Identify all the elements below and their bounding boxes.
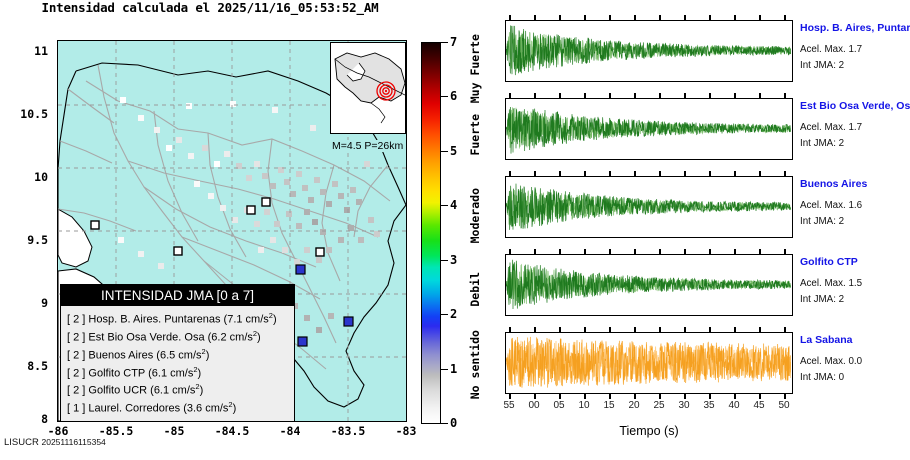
map-ytick: 11 bbox=[0, 44, 48, 58]
seismogram-tick bbox=[634, 249, 636, 254]
nicoya-gulf bbox=[58, 209, 92, 267]
legend-station: Golfito UCR bbox=[88, 385, 147, 397]
seismogram-tick bbox=[784, 249, 786, 254]
seismogram-accel: Acel. Max. 1.6 bbox=[800, 200, 862, 211]
seismogram-tick bbox=[659, 15, 661, 20]
seismogram-tick bbox=[584, 15, 586, 20]
seismogram-tick bbox=[784, 327, 786, 332]
legend-station: Buenos Aires bbox=[88, 349, 153, 361]
seismogram-tick bbox=[584, 93, 586, 98]
seismogram-tick bbox=[759, 249, 761, 254]
map-xtick: -84 bbox=[260, 424, 320, 438]
seismogram-tick bbox=[684, 394, 686, 399]
seismogram-tick bbox=[684, 15, 686, 20]
seismogram-tick bbox=[634, 171, 636, 176]
legend-station: Golfito CTP bbox=[88, 367, 145, 379]
legend-station: Laurel. Corredores bbox=[88, 403, 180, 415]
seismogram-tick bbox=[684, 249, 686, 254]
legend-paren: ) bbox=[257, 332, 261, 344]
seismogram-tick bbox=[559, 15, 561, 20]
seismogram-tick bbox=[609, 171, 611, 176]
legend-accel: (6.1 cm/s bbox=[150, 385, 195, 397]
seismogram-tick bbox=[784, 15, 786, 20]
legend-entries: [ 2 ] Hosp. B. Aires. Puntarenas (7.1 cm… bbox=[61, 306, 294, 421]
seismogram-tick bbox=[734, 327, 736, 332]
seismogram-tick bbox=[609, 93, 611, 98]
colorbar-category: No sentido bbox=[468, 330, 482, 399]
seismogram-tick bbox=[709, 327, 711, 332]
legend-accel: (6.5 cm/s bbox=[156, 349, 201, 361]
seismogram-tick bbox=[584, 171, 586, 176]
seismogram-station-label: Golfito CTP bbox=[800, 256, 858, 268]
inset-graphic bbox=[331, 43, 405, 133]
seismogram-tick bbox=[509, 394, 511, 399]
seismogram-station-label: Hosp. B. Aires, Puntare bbox=[800, 22, 910, 34]
seismogram-panel[interactable] bbox=[505, 254, 793, 316]
map-xtick: -85.5 bbox=[86, 424, 146, 438]
seismogram-tick bbox=[659, 171, 661, 176]
seismogram-tick bbox=[584, 327, 586, 332]
seismogram-panel[interactable] bbox=[505, 332, 793, 394]
legend-item: [ 2 ] Buenos Aires (6.5 cm/s2) bbox=[67, 345, 288, 363]
map-xtick: -83.5 bbox=[318, 424, 378, 438]
seismogram-station-label: Est Bio Osa Verde, Osa bbox=[800, 100, 910, 112]
northwest-border bbox=[58, 71, 76, 209]
seismogram-tick bbox=[559, 249, 561, 254]
seismogram-jma: Int JMA: 2 bbox=[800, 294, 844, 305]
footer-code: 20251116115354 bbox=[41, 437, 105, 447]
seismogram-tick-label: 15 bbox=[598, 400, 620, 411]
seismogram-tick bbox=[534, 327, 536, 332]
seismogram-tick bbox=[759, 327, 761, 332]
seismogram-tick bbox=[684, 327, 686, 332]
magnitude-depth-caption: M=4.5 P=26km bbox=[331, 140, 404, 152]
footer-org: LISUCR bbox=[4, 437, 39, 448]
legend-accel: (3.6 cm/s bbox=[183, 403, 228, 415]
colorbar-category: Fuerte bbox=[468, 114, 482, 156]
colorbar-tick: 7 bbox=[450, 35, 464, 49]
legend-level: [ 1 ] bbox=[67, 403, 85, 415]
legend-level: [ 2 ] bbox=[67, 314, 85, 326]
colorbar-tick: 5 bbox=[450, 144, 464, 158]
legend-accel: (7.1 cm/s bbox=[224, 314, 269, 326]
seismogram-tick bbox=[734, 15, 736, 20]
seismogram-tick bbox=[709, 171, 711, 176]
map-xtick: -84.5 bbox=[202, 424, 262, 438]
legend-title: INTENSIDAD JMA [0 a 7] bbox=[61, 285, 294, 306]
seismogram-panel[interactable] bbox=[505, 20, 793, 82]
seismogram-accel: Acel. Max. 0.0 bbox=[800, 356, 862, 367]
seismogram-tick bbox=[534, 171, 536, 176]
colorbar-tick: 2 bbox=[450, 307, 464, 321]
seismogram-tick bbox=[759, 93, 761, 98]
legend-level: [ 2 ] bbox=[67, 332, 85, 344]
seismogram-tick bbox=[609, 15, 611, 20]
seismogram-jma: Int JMA: 2 bbox=[800, 138, 844, 149]
seismogram-tick bbox=[709, 249, 711, 254]
legend-paren: ) bbox=[206, 349, 210, 361]
seismogram-tick bbox=[734, 394, 736, 399]
seismogram-tick bbox=[584, 249, 586, 254]
seismogram-tick bbox=[759, 171, 761, 176]
colorbar-tick: 4 bbox=[450, 198, 464, 212]
seismogram-tick-label: 30 bbox=[673, 400, 695, 411]
seismogram-jma: Int JMA: 2 bbox=[800, 216, 844, 227]
seismogram-tick bbox=[534, 93, 536, 98]
page-title: Intensidad calculada el 2025/11/16_05:53… bbox=[0, 0, 420, 15]
seismogram-tick bbox=[634, 15, 636, 20]
seismogram-tick bbox=[784, 171, 786, 176]
legend-item: [ 2 ] Golfito CTP (6.1 cm/s2) bbox=[67, 363, 288, 381]
seismogram-tick bbox=[559, 171, 561, 176]
seismogram-tick bbox=[659, 93, 661, 98]
seismogram-jma: Int JMA: 0 bbox=[800, 372, 844, 383]
seismogram-tick bbox=[659, 394, 661, 399]
legend-paren: ) bbox=[200, 385, 204, 397]
colorbar-tick: 3 bbox=[450, 253, 464, 267]
footer: LISUCR 20251116115354 bbox=[4, 437, 106, 448]
seismogram-station-label: Buenos Aires bbox=[800, 178, 867, 190]
legend-paren: ) bbox=[198, 367, 202, 379]
seismogram-tick bbox=[534, 249, 536, 254]
map-xtick: -83 bbox=[376, 424, 436, 438]
seismogram-accel: Acel. Max. 1.5 bbox=[800, 278, 862, 289]
legend-paren: ) bbox=[233, 403, 237, 415]
legend-paren: ) bbox=[273, 314, 277, 326]
seismogram-accel: Acel. Max. 1.7 bbox=[800, 44, 862, 55]
seismogram-tick bbox=[584, 394, 586, 399]
seismogram-tick bbox=[609, 327, 611, 332]
seismogram-tick bbox=[759, 394, 761, 399]
seismogram-tick bbox=[734, 93, 736, 98]
seismogram-panel[interactable] bbox=[505, 176, 793, 238]
seismogram-tick bbox=[509, 249, 511, 254]
seismogram-tick-label: 25 bbox=[648, 400, 670, 411]
seismogram-tick bbox=[559, 394, 561, 399]
colorbar-category: Muy Fuerte bbox=[468, 34, 482, 103]
colorbar-category: Debil bbox=[468, 272, 482, 307]
colorbar-tick: 1 bbox=[450, 362, 464, 376]
seismogram-tick bbox=[734, 171, 736, 176]
intensity-colorbar bbox=[421, 42, 441, 424]
epicenter-icon bbox=[377, 82, 395, 100]
epicenter-inset-map[interactable] bbox=[330, 42, 406, 134]
map-xtick: -85 bbox=[144, 424, 204, 438]
seismogram-tick bbox=[659, 327, 661, 332]
seismogram-tick bbox=[634, 93, 636, 98]
seismogram-tick bbox=[634, 394, 636, 399]
seismogram-tick bbox=[759, 15, 761, 20]
seismogram-tick bbox=[784, 93, 786, 98]
legend-item: [ 2 ] Hosp. B. Aires. Puntarenas (7.1 cm… bbox=[67, 309, 288, 327]
map-ytick: 8.5 bbox=[0, 359, 48, 373]
intensity-legend: INTENSIDAD JMA [0 a 7] [ 2 ] Hosp. B. Ai… bbox=[60, 284, 295, 422]
seismogram-panel[interactable] bbox=[505, 98, 793, 160]
map-xtick: -86 bbox=[28, 424, 88, 438]
seismogram-tick bbox=[609, 249, 611, 254]
seismogram-tick bbox=[609, 394, 611, 399]
seismogram-tick bbox=[534, 15, 536, 20]
seismogram-tick bbox=[534, 394, 536, 399]
map-ytick: 9.5 bbox=[0, 233, 48, 247]
seismogram-tick-label: 35 bbox=[698, 400, 720, 411]
legend-item: [ 2 ] Golfito UCR (6.1 cm/s2) bbox=[67, 380, 288, 398]
legend-accel: (6.1 cm/s bbox=[148, 367, 193, 379]
legend-item: [ 2 ] Est Bio Osa Verde. Osa (6.2 cm/s2) bbox=[67, 327, 288, 345]
seismogram-tick-label: 05 bbox=[548, 400, 570, 411]
seismogram-tick bbox=[659, 249, 661, 254]
colorbar-tick: 0 bbox=[450, 416, 464, 430]
seismogram-tick-label: 00 bbox=[523, 400, 545, 411]
seismogram-tick-label: 20 bbox=[623, 400, 645, 411]
legend-item: [ 1 ] Laurel. Corredores (3.6 cm/s2) bbox=[67, 398, 288, 416]
seismogram-tick bbox=[784, 394, 786, 399]
seismogram-xaxis-label: Tiempo (s) bbox=[505, 424, 793, 438]
legend-level: [ 2 ] bbox=[67, 349, 85, 361]
seismogram-tick bbox=[734, 249, 736, 254]
seismogram-tick bbox=[509, 93, 511, 98]
seismogram-tick bbox=[559, 93, 561, 98]
seismogram-tick-label: 55 bbox=[498, 400, 520, 411]
seismogram-tick bbox=[509, 171, 511, 176]
seismogram-tick bbox=[634, 327, 636, 332]
legend-accel: (6.2 cm/s bbox=[208, 332, 253, 344]
seismogram-tick bbox=[709, 394, 711, 399]
seismogram-tick bbox=[509, 15, 511, 20]
seismogram-tick bbox=[684, 93, 686, 98]
seismogram-tick-label: 45 bbox=[748, 400, 770, 411]
seismogram-tick bbox=[709, 15, 711, 20]
map-ytick: 9 bbox=[0, 296, 48, 310]
seismogram-tick bbox=[509, 327, 511, 332]
seismogram-tick-label: 50 bbox=[773, 400, 795, 411]
seismogram-station-label: La Sabana bbox=[800, 334, 853, 346]
legend-level: [ 2 ] bbox=[67, 367, 85, 379]
map-ytick: 10.5 bbox=[0, 107, 48, 121]
colorbar-tick: 6 bbox=[450, 89, 464, 103]
seismogram-tick-label: 40 bbox=[723, 400, 745, 411]
seismogram-accel: Acel. Max. 1.7 bbox=[800, 122, 862, 133]
seismogram-tick-label: 10 bbox=[573, 400, 595, 411]
colorbar-category: Moderado bbox=[468, 188, 482, 243]
legend-level: [ 2 ] bbox=[67, 385, 85, 397]
seismogram-tick bbox=[559, 327, 561, 332]
seismogram-tick bbox=[684, 171, 686, 176]
seismogram-jma: Int JMA: 2 bbox=[800, 60, 844, 71]
legend-station: Est Bio Osa Verde. Osa bbox=[88, 332, 204, 344]
seismogram-tick bbox=[709, 93, 711, 98]
map-ytick: 10 bbox=[0, 170, 48, 184]
legend-station: Hosp. B. Aires. Puntarenas bbox=[88, 314, 220, 326]
